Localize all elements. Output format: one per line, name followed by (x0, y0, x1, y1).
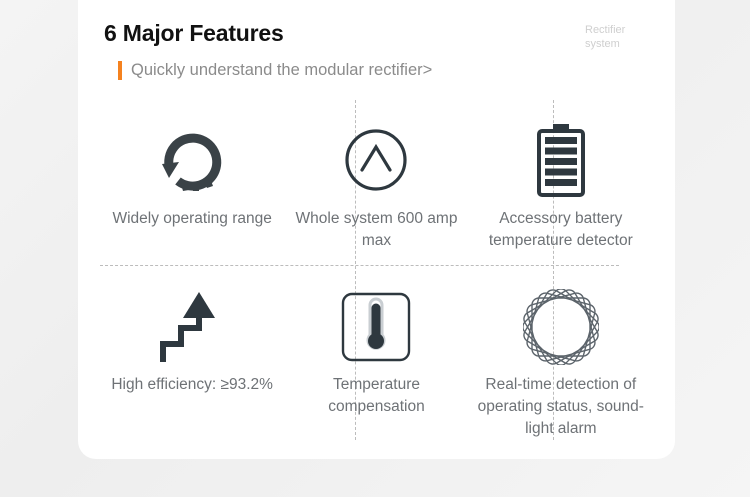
feature-card: 6 Major Features Quickly understand the … (78, 0, 675, 459)
feature-caption: Whole system 600 amp max (289, 208, 464, 252)
subtitle-row: Quickly understand the modular rectifier… (118, 60, 664, 80)
battery-full-icon (530, 114, 592, 206)
feature-item-whole-system-amp-max: Whole system 600 amp max (284, 100, 468, 266)
feature-item-high-efficiency: High efficiency: ≥93.2% (100, 266, 284, 440)
feature-caption: Widely operating range (112, 208, 271, 230)
page-title: 6 Major Features (104, 18, 664, 48)
stairs-up-arrow-icon (157, 282, 227, 372)
circle-chevron-up-icon (341, 114, 411, 206)
thermometer-icon (340, 282, 412, 372)
rotating-squares-alarm-icon (523, 282, 599, 372)
accent-bar (118, 61, 122, 80)
features-grid: Widely operating range Whole system 600 … (100, 100, 653, 440)
card-header: 6 Major Features Quickly understand the … (104, 18, 664, 80)
circular-arrow-icon (156, 114, 228, 206)
corner-watermark-label: Rectifier system (585, 23, 647, 51)
feature-item-real-time-detection: Real-time detection of operating status,… (469, 266, 653, 440)
feature-item-accessory-battery-temperature-detector: Accessory battery temperature detector (469, 100, 653, 266)
feature-caption: High efficiency: ≥93.2% (111, 374, 273, 396)
feature-caption: Temperature compensation (289, 374, 464, 418)
feature-caption: Accessory battery temperature detector (473, 208, 648, 252)
feature-caption: Real-time detection of operating status,… (473, 374, 648, 440)
subtitle: Quickly understand the modular rectifier… (131, 60, 432, 80)
feature-item-temperature-compensation: Temperature compensation (284, 266, 468, 440)
feature-item-widely-operating-range: Widely operating range (100, 100, 284, 266)
